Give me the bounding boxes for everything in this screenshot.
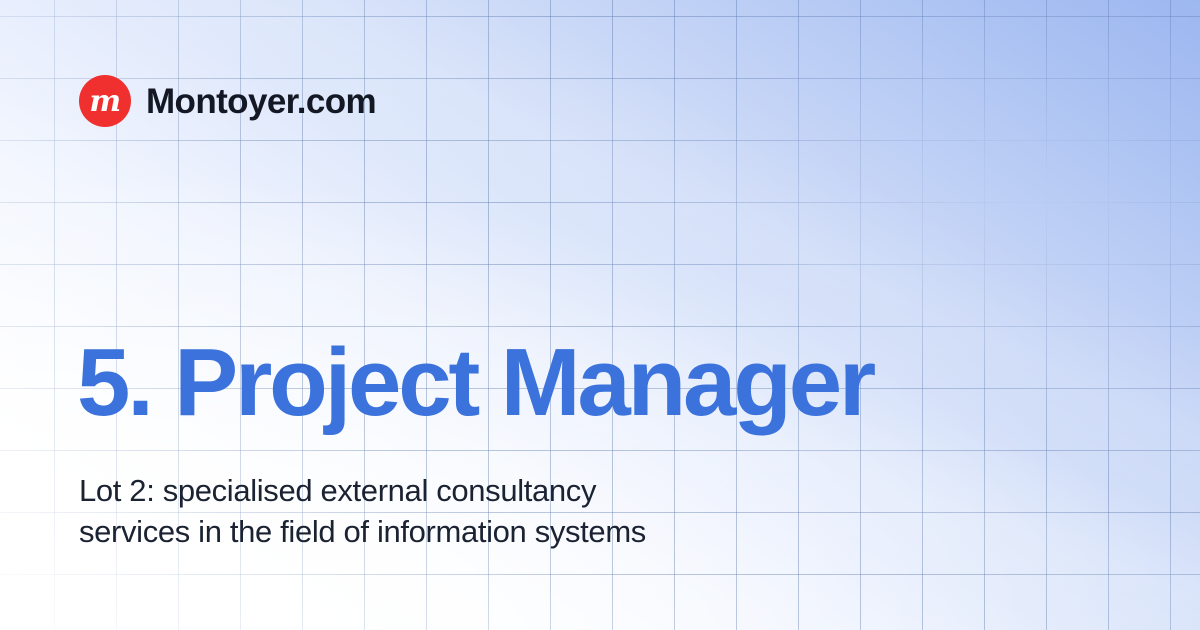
card-content: m Montoyer.com 5. Project Manager Lot 2:… bbox=[0, 0, 1200, 630]
share-card: m Montoyer.com 5. Project Manager Lot 2:… bbox=[0, 0, 1200, 630]
page-subtitle-line-2: services in the field of information sys… bbox=[79, 511, 889, 552]
page-title: 5. Project Manager bbox=[77, 335, 873, 431]
brand-name: Montoyer.com bbox=[146, 84, 376, 119]
page-subtitle-line-1: Lot 2: specialised external consultancy bbox=[79, 470, 889, 511]
brand-lockup[interactable]: m Montoyer.com bbox=[79, 75, 376, 127]
montoyer-m-logo-icon: m bbox=[79, 75, 131, 127]
page-subtitle: Lot 2: specialised external consultancy … bbox=[79, 470, 889, 552]
logo-letter: m bbox=[89, 87, 120, 117]
